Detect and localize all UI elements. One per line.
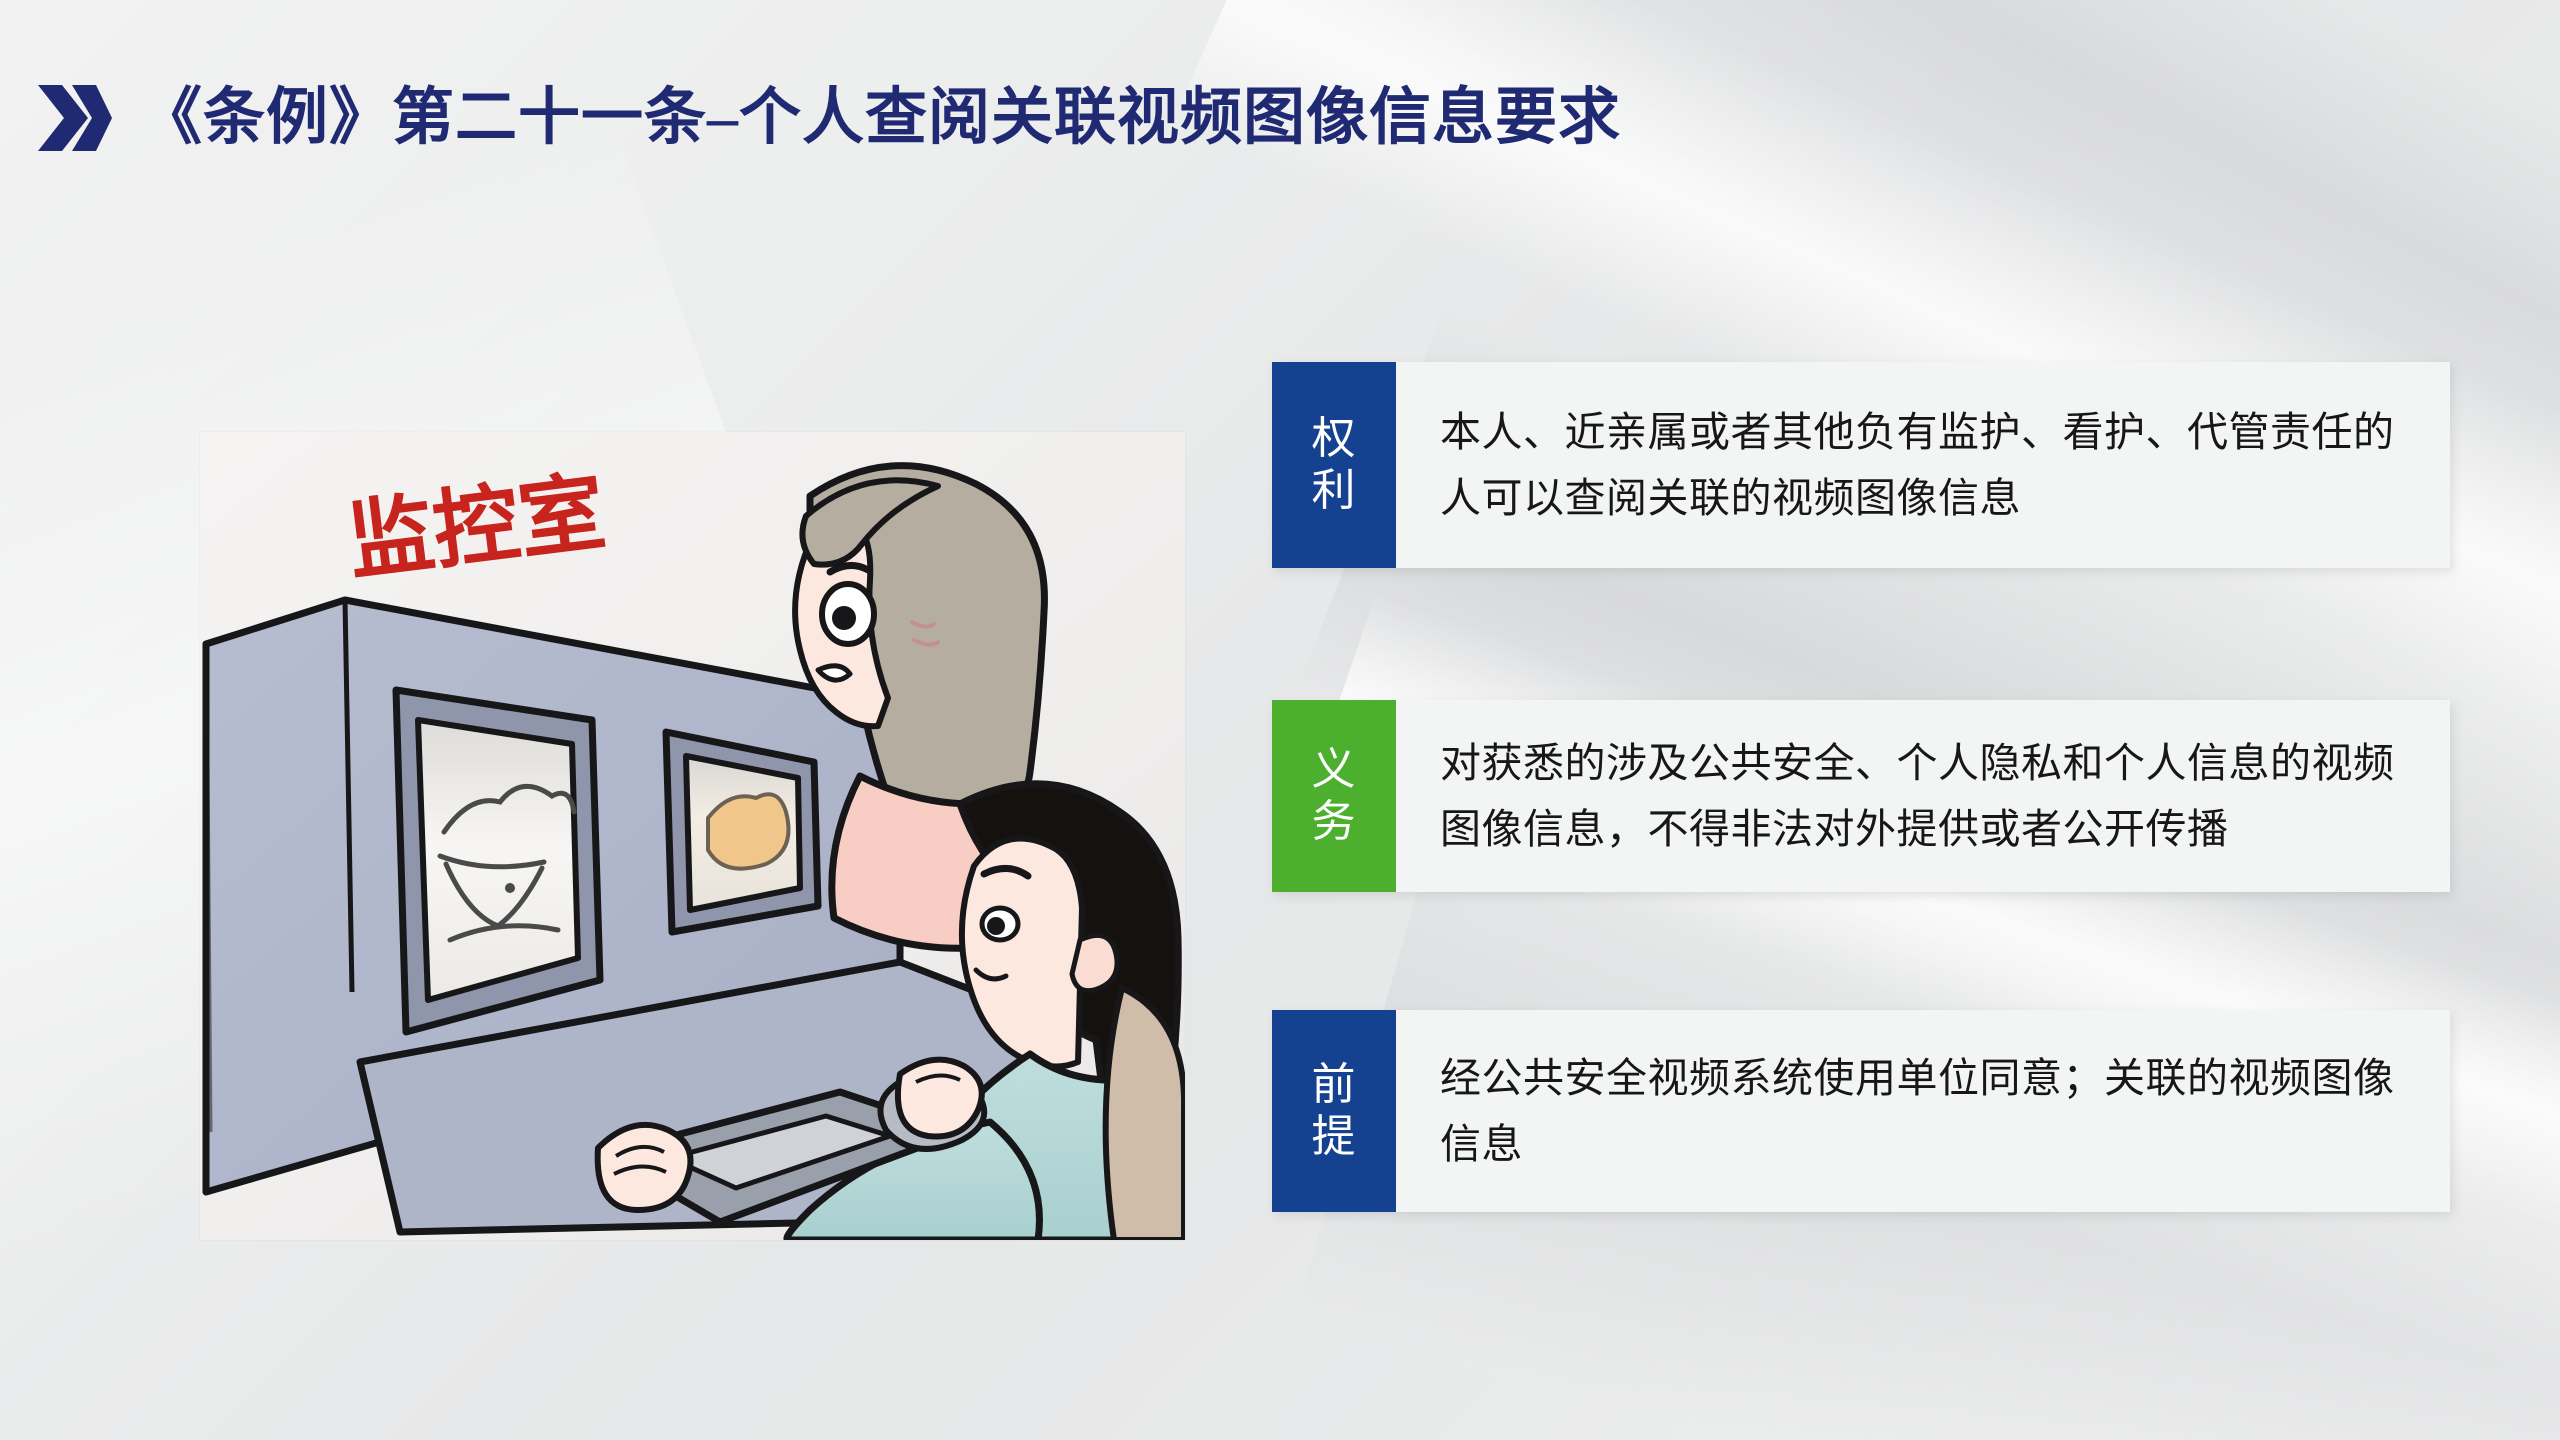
info-box-rights: 权 利 本人、近亲属或者其他负有监护、看护、代管责任的人可以查阅关联的视频图像信…: [1272, 362, 2450, 568]
info-box-tag: 前 提: [1272, 1010, 1396, 1212]
slide-title-row: 《条例》第二十一条–个人查阅关联视频图像信息要求: [36, 42, 1621, 193]
slide-canvas: 《条例》第二十一条–个人查阅关联视频图像信息要求: [0, 0, 2560, 1440]
tag-char-2: 利: [1312, 465, 1357, 517]
tag-char-2: 务: [1312, 796, 1357, 848]
info-box-text: 对获悉的涉及公共安全、个人隐私和个人信息的视频图像信息，不得非法对外提供或者公开…: [1396, 700, 2450, 892]
monitoring-room-illustration: 监控室: [200, 432, 1185, 1240]
info-box-obligations: 义 务 对获悉的涉及公共安全、个人隐私和个人信息的视频图像信息，不得非法对外提供…: [1272, 700, 2450, 892]
info-box-text: 本人、近亲属或者其他负有监护、看护、代管责任的人可以查阅关联的视频图像信息: [1396, 362, 2450, 568]
info-box-text: 经公共安全视频系统使用单位同意；关联的视频图像信息: [1396, 1010, 2450, 1212]
info-box-prerequisite: 前 提 经公共安全视频系统使用单位同意；关联的视频图像信息: [1272, 1010, 2450, 1212]
info-box-tag: 义 务: [1272, 700, 1396, 892]
tag-char-2: 提: [1312, 1111, 1357, 1163]
page-title: 《条例》第二十一条–个人查阅关联视频图像信息要求: [140, 84, 1621, 152]
tag-char-1: 权: [1312, 413, 1357, 465]
info-box-tag: 权 利: [1272, 362, 1396, 568]
tag-char-1: 前: [1312, 1059, 1357, 1111]
tag-char-1: 义: [1312, 744, 1357, 796]
double-chevron-right-icon: [36, 81, 114, 155]
